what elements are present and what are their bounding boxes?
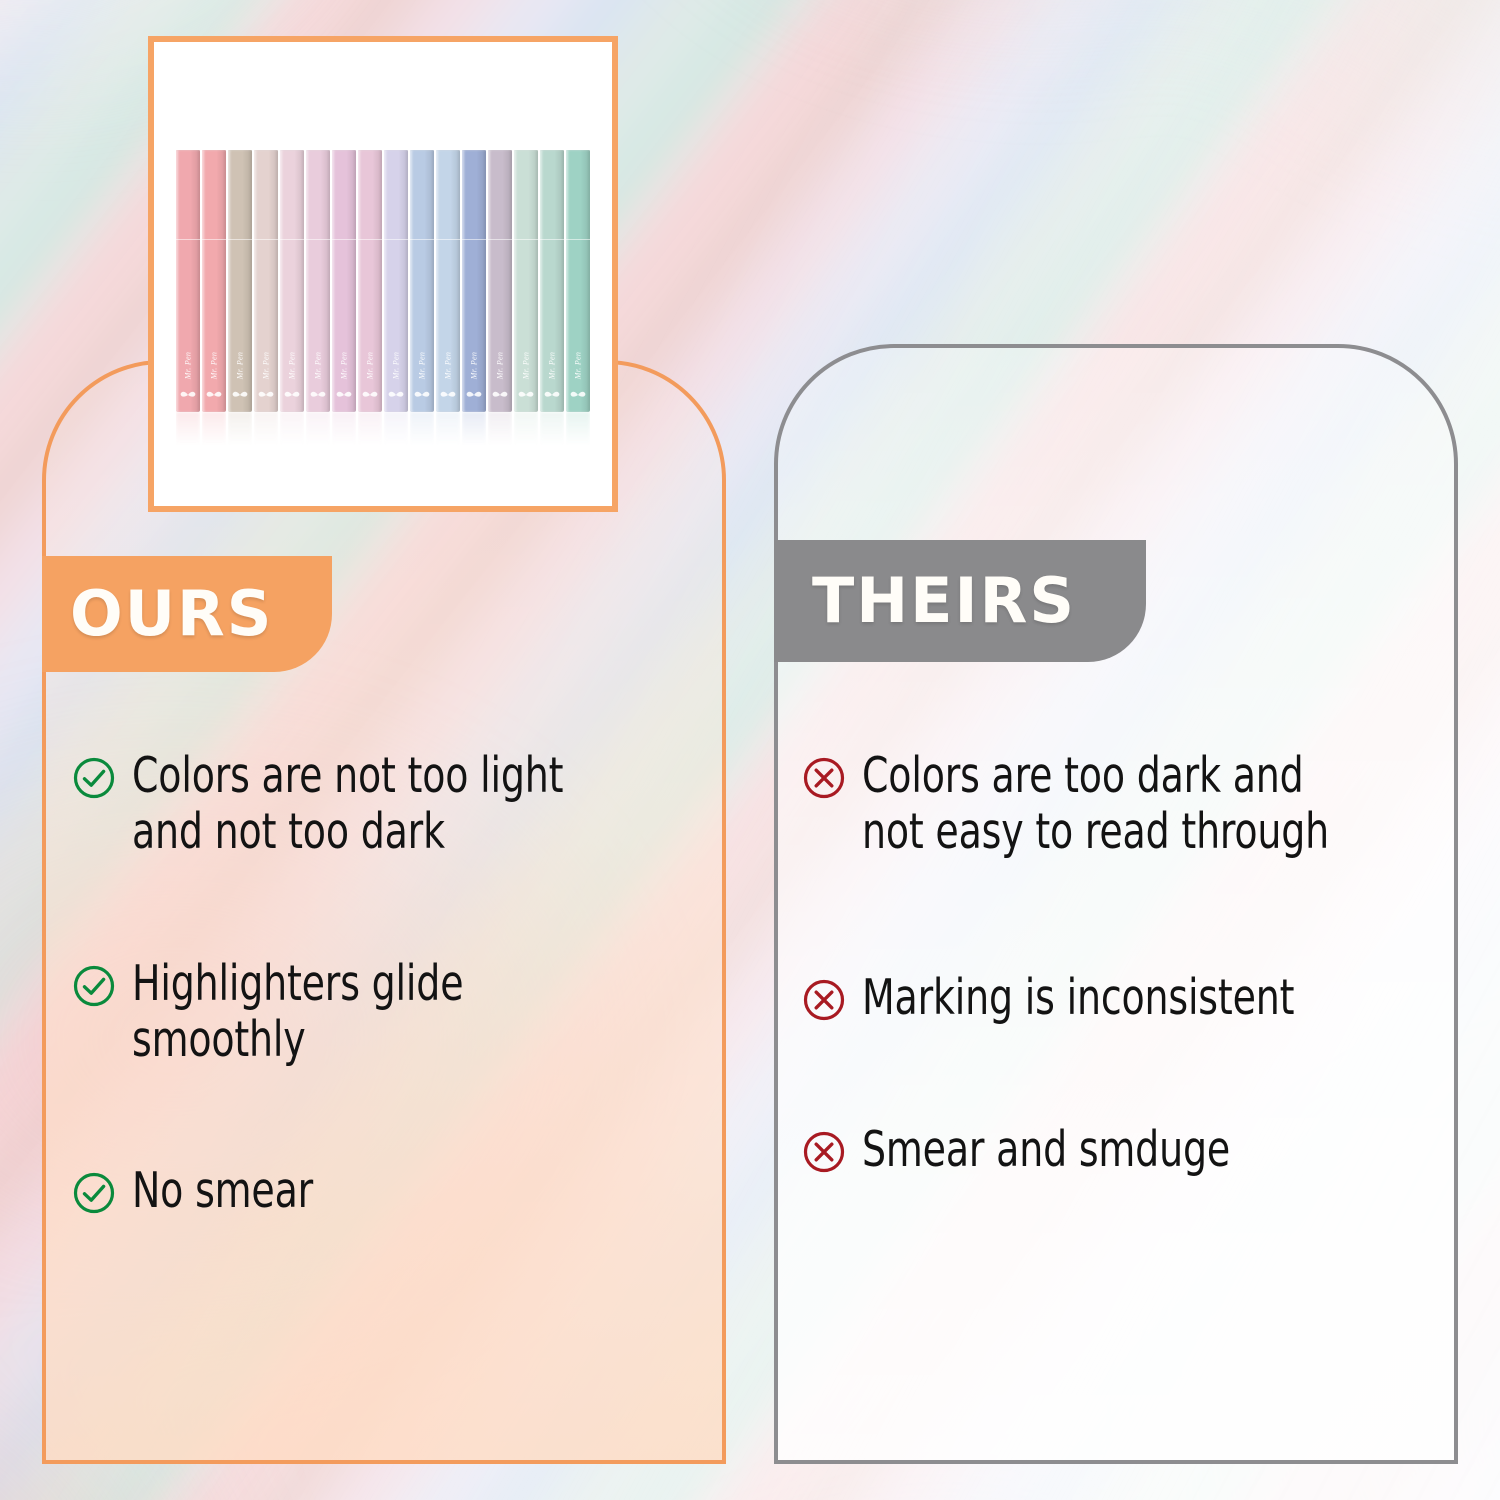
mustache-icon — [492, 387, 509, 398]
pen-cap-seam — [384, 239, 408, 240]
pen-cap-seam — [358, 239, 382, 240]
theirs-badge: THEIRS — [774, 540, 1146, 662]
pen-cap-seam — [488, 239, 512, 240]
highlighter-pen: Mr. Pen — [306, 150, 330, 412]
pen-reflection — [540, 412, 564, 446]
check-circle-icon — [72, 1171, 116, 1215]
mustache-icon — [362, 387, 379, 398]
pen-brand-label: Mr. Pen — [236, 352, 245, 379]
pen-cap-seam — [514, 239, 538, 240]
pen-brand-label: Mr. Pen — [444, 352, 453, 379]
pen-reflection — [436, 412, 460, 446]
highlighter-pen: Mr. Pen — [540, 150, 564, 412]
ours-badge-label: OURS — [70, 583, 273, 645]
ours-badge: OURS — [42, 556, 332, 672]
list-item: Highlighters glide smoothly — [72, 956, 716, 1068]
highlighter-pen: Mr. Pen — [436, 150, 460, 412]
pen-brand-label: Mr. Pen — [314, 352, 323, 379]
highlighter-pen: Mr. Pen — [488, 150, 512, 412]
ours-bullet-list: Colors are not too light and not too dar… — [72, 748, 716, 1271]
pen-cap-seam — [176, 239, 200, 240]
pen-brand-label: Mr. Pen — [210, 352, 219, 379]
list-item: Smear and smduge — [802, 1122, 1446, 1178]
list-item: Marking is inconsistent — [802, 970, 1446, 1026]
pen-cap-seam — [436, 239, 460, 240]
pen-brand-label: Mr. Pen — [418, 352, 427, 379]
check-circle-icon — [72, 756, 116, 800]
pen-brand-label: Mr. Pen — [262, 352, 271, 379]
highlighter-pen: Mr. Pen — [254, 150, 278, 412]
highlighter-pen-row: Mr. PenMr. PenMr. PenMr. PenMr. PenMr. P… — [176, 150, 590, 412]
pen-brand-label: Mr. Pen — [366, 352, 375, 379]
mustache-icon — [180, 387, 197, 398]
pen-cap-seam — [410, 239, 434, 240]
pen-cap-seam — [280, 239, 304, 240]
pen-brand-label: Mr. Pen — [184, 352, 193, 379]
product-photo-inset: Mr. PenMr. PenMr. PenMr. PenMr. PenMr. P… — [148, 36, 618, 512]
theirs-badge-label: THEIRS — [812, 570, 1076, 632]
pen-brand-label: Mr. Pen — [548, 352, 557, 379]
highlighter-pen: Mr. Pen — [228, 150, 252, 412]
list-item-label: Marking is inconsistent — [862, 970, 1364, 1026]
pen-reflection — [358, 412, 382, 446]
highlighter-pen: Mr. Pen — [358, 150, 382, 412]
mustache-icon — [570, 387, 587, 398]
pen-reflection — [176, 412, 200, 446]
x-circle-icon — [802, 1130, 846, 1174]
pen-cap-seam — [566, 239, 590, 240]
pen-reflection — [332, 412, 356, 446]
pen-brand-label: Mr. Pen — [496, 352, 505, 379]
pen-brand-label: Mr. Pen — [288, 352, 297, 379]
mustache-icon — [284, 387, 301, 398]
mustache-icon — [414, 387, 431, 398]
pen-reflection — [306, 412, 330, 446]
pen-reflection — [384, 412, 408, 446]
highlighter-pen: Mr. Pen — [384, 150, 408, 412]
pen-cap-seam — [202, 239, 226, 240]
pen-reflection — [254, 412, 278, 446]
pen-reflection — [202, 412, 226, 446]
pen-reflection — [462, 412, 486, 446]
list-item-label: Colors are not too light and not too dar… — [132, 748, 634, 860]
mustache-icon — [310, 387, 327, 398]
list-item-label: Highlighters glide smoothly — [132, 956, 634, 1068]
list-item-label: Colors are too dark and not easy to read… — [862, 748, 1364, 860]
x-circle-icon — [802, 978, 846, 1022]
pen-cap-seam — [540, 239, 564, 240]
highlighter-pen: Mr. Pen — [176, 150, 200, 412]
list-item-label: Smear and smduge — [862, 1122, 1364, 1178]
highlighter-pen: Mr. Pen — [280, 150, 304, 412]
pen-brand-label: Mr. Pen — [340, 352, 349, 379]
pen-brand-label: Mr. Pen — [574, 352, 583, 379]
pen-cap-seam — [306, 239, 330, 240]
theirs-bullet-list: Colors are too dark and not easy to read… — [802, 748, 1446, 1229]
mustache-icon — [388, 387, 405, 398]
check-circle-icon — [72, 964, 116, 1008]
mustache-icon — [206, 387, 223, 398]
pen-cap-seam — [462, 239, 486, 240]
mustache-icon — [466, 387, 483, 398]
highlighter-pen: Mr. Pen — [514, 150, 538, 412]
highlighter-pen: Mr. Pen — [410, 150, 434, 412]
pen-reflection — [566, 412, 590, 446]
mustache-icon — [232, 387, 249, 398]
pen-cap-seam — [332, 239, 356, 240]
mustache-icon — [336, 387, 353, 398]
highlighter-pen: Mr. Pen — [202, 150, 226, 412]
list-item: Colors are not too light and not too dar… — [72, 748, 716, 860]
pen-cap-seam — [228, 239, 252, 240]
pen-reflection — [514, 412, 538, 446]
list-item-label: No smear — [132, 1163, 634, 1219]
highlighter-pen: Mr. Pen — [332, 150, 356, 412]
pen-reflection — [280, 412, 304, 446]
mustache-icon — [440, 387, 457, 398]
pen-reflection — [228, 412, 252, 446]
highlighter-pen: Mr. Pen — [462, 150, 486, 412]
list-item: Colors are too dark and not easy to read… — [802, 748, 1446, 860]
pen-reflection — [488, 412, 512, 446]
x-circle-icon — [802, 756, 846, 800]
pen-cap-seam — [254, 239, 278, 240]
pen-reflection — [410, 412, 434, 446]
pen-brand-label: Mr. Pen — [522, 352, 531, 379]
mustache-icon — [518, 387, 535, 398]
mustache-icon — [258, 387, 275, 398]
pen-brand-label: Mr. Pen — [392, 352, 401, 379]
highlighter-pen: Mr. Pen — [566, 150, 590, 412]
highlighter-pen-reflection — [176, 412, 590, 446]
list-item: No smear — [72, 1163, 716, 1219]
mustache-icon — [544, 387, 561, 398]
pen-brand-label: Mr. Pen — [470, 352, 479, 379]
